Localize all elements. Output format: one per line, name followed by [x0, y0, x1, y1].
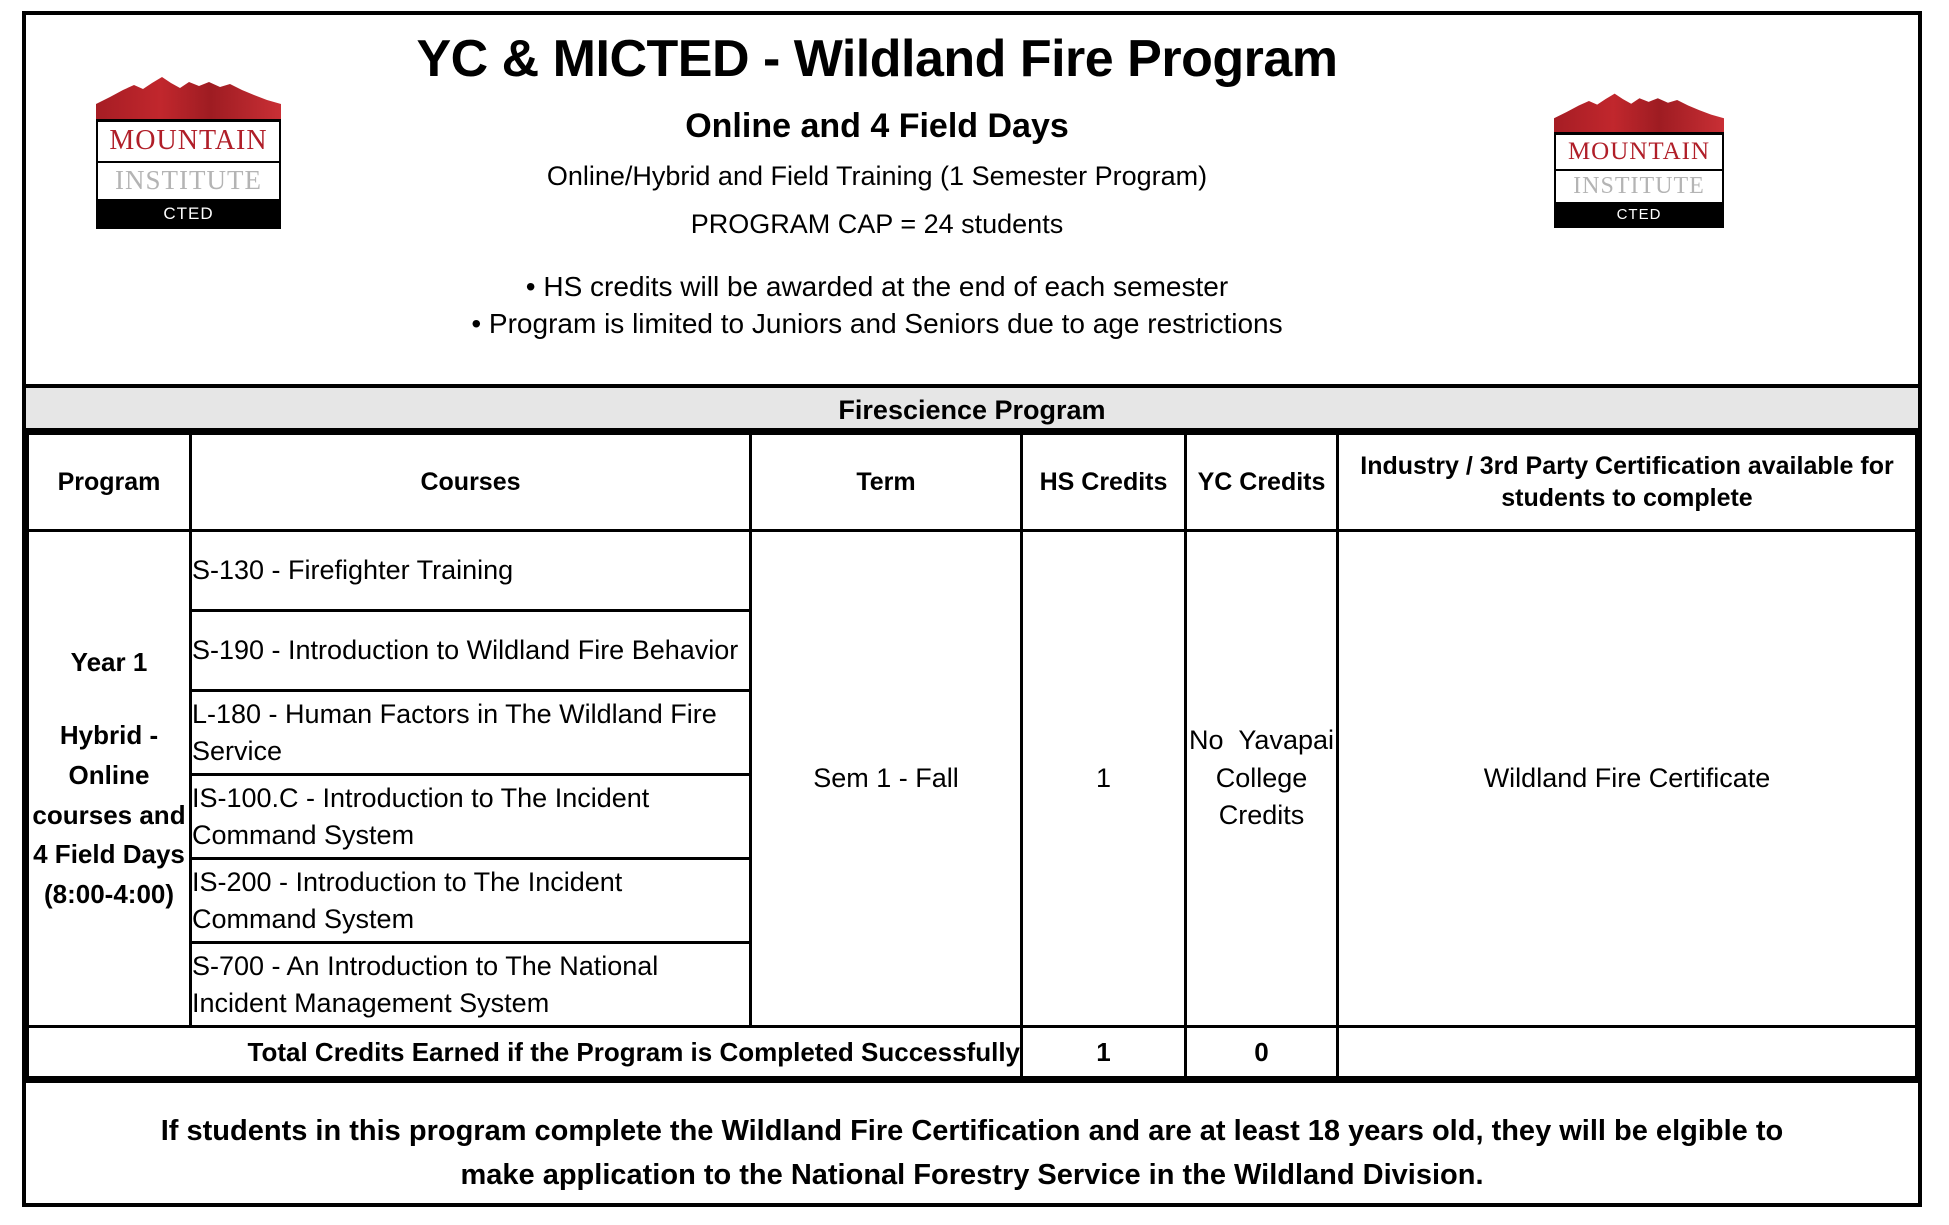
page-subtitle: Online and 4 Field Days [26, 107, 1918, 146]
column-header-industry-certification: Industry / 3rd Party Certification avail… [1338, 434, 1917, 531]
program-detail-line: Hybrid - [60, 720, 158, 750]
page-title: YC & MICTED - Wildland Fire Program [26, 31, 1918, 87]
column-header-courses: Courses [191, 434, 751, 531]
totals-label: Total Credits Earned if the Program is C… [28, 1027, 1022, 1078]
cell-course: IS-200 - Introduction to The Incident Co… [191, 859, 751, 943]
program-detail-line: courses and [32, 800, 185, 830]
totals-yc-credits: 0 [1186, 1027, 1338, 1078]
program-detail-line: Online [69, 760, 150, 790]
table-totals-row: Total Credits Earned if the Program is C… [28, 1027, 1917, 1078]
totals-industry-blank [1338, 1027, 1917, 1078]
cell-program-description: Year 1 Hybrid - Online courses and 4 Fie… [28, 531, 191, 1027]
table-row: Year 1 Hybrid - Online courses and 4 Fie… [28, 531, 1917, 611]
program-detail-line: 4 Field Days [33, 839, 185, 869]
header-bullet-item: • Program is limited to Juniors and Seni… [86, 305, 1668, 343]
column-header-hs-credits: HS Credits [1022, 434, 1186, 531]
program-table: Program Courses Term HS Credits YC Credi… [26, 432, 1918, 1079]
cell-course: IS-100.C - Introduction to The Incident … [191, 775, 751, 859]
header-line-program-cap: PROGRAM CAP = 24 students [26, 208, 1918, 242]
column-header-yc-credits: YC Credits [1186, 434, 1338, 531]
header-line-training: Online/Hybrid and Field Training (1 Seme… [26, 160, 1918, 194]
header-bullet-item: • HS credits will be awarded at the end … [86, 268, 1668, 306]
column-header-term: Term [751, 434, 1022, 531]
header-bullet-list: • HS credits will be awarded at the end … [26, 268, 1918, 344]
table-header-row: Program Courses Term HS Credits YC Credi… [28, 434, 1917, 531]
cell-yc-credits: No Yavapai College Credits [1186, 531, 1338, 1027]
document-page: MOUNTAIN INSTITUTE CTED MOUNTAIN INSTITU… [22, 11, 1922, 1207]
cell-hs-credits: 1 [1022, 531, 1186, 1027]
document-header: MOUNTAIN INSTITUTE CTED MOUNTAIN INSTITU… [26, 15, 1918, 388]
cell-course: S-130 - Firefighter Training [191, 531, 751, 611]
header-text-block: YC & MICTED - Wildland Fire Program Onli… [26, 15, 1918, 343]
section-banner-firescience: Firescience Program [26, 388, 1918, 432]
column-header-program: Program [28, 434, 191, 531]
totals-hs-credits: 1 [1022, 1027, 1186, 1078]
program-year-label: Year 1 [71, 647, 148, 677]
program-detail-line: (8:00-4:00) [44, 879, 174, 909]
cell-term: Sem 1 - Fall [751, 531, 1022, 1027]
cell-course: S-700 - An Introduction to The National … [191, 943, 751, 1027]
footer-note: If students in this program complete the… [26, 1079, 1918, 1218]
yc-credits-line: College [1216, 763, 1308, 793]
yc-credits-line: Credits [1219, 800, 1305, 830]
cell-course: S-190 - Introduction to Wildland Fire Be… [191, 611, 751, 691]
cell-course: L-180 - Human Factors in The Wildland Fi… [191, 691, 751, 775]
program-spacer [29, 682, 189, 716]
cell-industry-certification: Wildland Fire Certificate [1338, 531, 1917, 1027]
yc-credits-line: No Yavapai [1187, 722, 1336, 760]
